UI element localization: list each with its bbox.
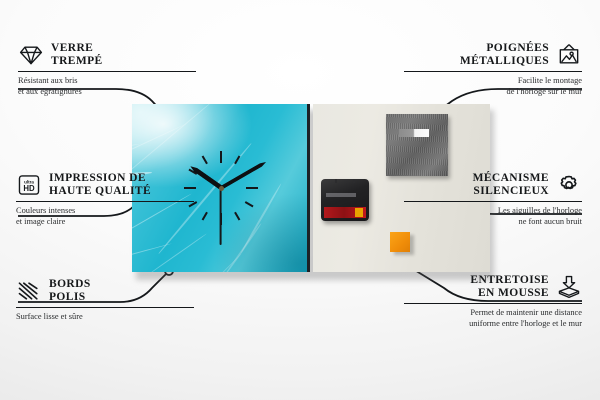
clock-center-cap bbox=[219, 186, 224, 191]
feature-description: Permet de maintenir une distanceuniforme… bbox=[404, 308, 582, 329]
plate-slot bbox=[399, 129, 429, 137]
feature-rule bbox=[18, 71, 196, 72]
feature-title: VERRETREMPÉ bbox=[51, 42, 103, 68]
feature-header: POIGNÉESMÉTALLIQUES bbox=[404, 42, 582, 68]
gear-icon bbox=[556, 173, 582, 197]
feature-header: BORDSPOLIS bbox=[16, 278, 194, 304]
feature-header: MÉCANISMESILENCIEUX bbox=[404, 172, 582, 198]
feature-impression-haute-qualite: ultra HD IMPRESSION DEHAUTE QUALITÉ Coul… bbox=[16, 172, 194, 227]
hanging-frame-icon bbox=[556, 43, 582, 67]
infographic-stage: VERRETREMPÉ Résistant aux briset aux égr… bbox=[0, 0, 600, 400]
clock-mechanism bbox=[321, 179, 369, 221]
feature-title: MÉCANISMESILENCIEUX bbox=[473, 172, 549, 198]
feature-header: ultra HD IMPRESSION DEHAUTE QUALITÉ bbox=[16, 172, 194, 198]
feature-verre-trempe: VERRETREMPÉ Résistant aux briset aux égr… bbox=[18, 42, 196, 97]
metal-mounting-plate bbox=[386, 114, 448, 176]
svg-text:HD: HD bbox=[23, 184, 35, 193]
feature-rule bbox=[16, 307, 194, 308]
feature-description: Résistant aux briset aux égratignures bbox=[18, 76, 196, 97]
polished-edges-icon bbox=[16, 279, 42, 303]
feature-description: Les aiguilles de l'horlogene font aucun … bbox=[404, 206, 582, 227]
feature-description: Surface lisse et sûre bbox=[16, 312, 194, 323]
feature-bords-polis: BORDSPOLIS Surface lisse et sûre bbox=[16, 278, 194, 323]
diamond-icon bbox=[18, 43, 44, 67]
clock-second-hand bbox=[220, 188, 222, 245]
feature-entretoise-en-mousse: ENTRETOISEEN MOUSSE Permet de maintenir … bbox=[404, 274, 582, 329]
feature-description: Couleurs intenseset image claire bbox=[16, 206, 194, 227]
feature-title: POIGNÉESMÉTALLIQUES bbox=[460, 42, 549, 68]
feature-header: ENTRETOISEEN MOUSSE bbox=[404, 274, 582, 300]
ultra-hd-icon: ultra HD bbox=[16, 173, 42, 197]
feature-description: Facilite le montagede l'horloge sur le m… bbox=[404, 76, 582, 97]
feature-header: VERRETREMPÉ bbox=[18, 42, 196, 68]
feature-title: IMPRESSION DEHAUTE QUALITÉ bbox=[49, 172, 151, 198]
feature-rule bbox=[404, 201, 582, 202]
feature-rule bbox=[404, 71, 582, 72]
foam-spacer bbox=[390, 232, 410, 252]
feature-rule bbox=[404, 303, 582, 304]
mechanism-handle bbox=[335, 179, 355, 183]
mechanism-red-label bbox=[324, 207, 366, 218]
foam-spacer-icon bbox=[556, 275, 582, 299]
feature-title: ENTRETOISEEN MOUSSE bbox=[470, 274, 549, 300]
feature-rule bbox=[16, 201, 194, 202]
feature-title: BORDSPOLIS bbox=[49, 278, 91, 304]
mechanism-text bbox=[326, 193, 356, 197]
feature-poignees-metalliques: POIGNÉESMÉTALLIQUES Facilite le montaged… bbox=[404, 42, 582, 97]
feature-mecanisme-silencieux: MÉCANISMESILENCIEUX Les aiguilles de l'h… bbox=[404, 172, 582, 227]
